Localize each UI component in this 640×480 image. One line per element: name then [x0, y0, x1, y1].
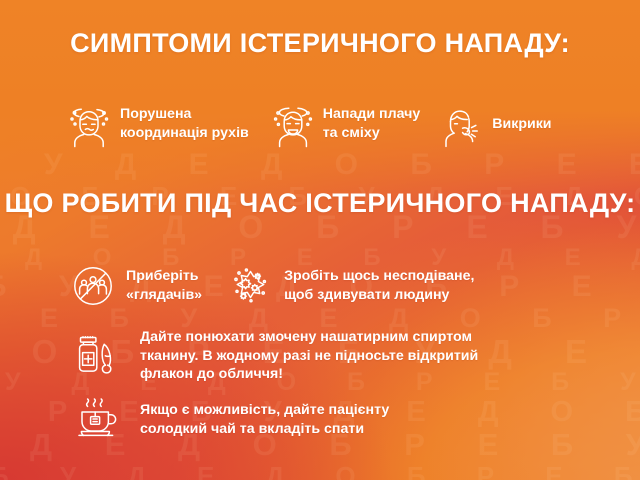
advice-item-remove-spectators: Приберіть «глядачів»: [70, 263, 202, 309]
advice-row-top: Приберіть «глядачів»: [70, 262, 626, 310]
sparkle-burst-icon: [226, 262, 274, 310]
advice-label: Якщо є можливість, дайте пацієнту солодк…: [140, 401, 389, 438]
symptom-item-coordination: Порушена координація рухів: [66, 100, 249, 148]
medicine-bottle-cloth-icon: [74, 332, 124, 380]
no-crowd-icon: [70, 263, 116, 309]
infographic-poster: Б У Д Е Д О Б Р Е Б У Д Е Д О Б Р ЕО Б Р…: [0, 0, 640, 480]
advice-item-do-something-unexpected: Зробіть щось несподіване, щоб здивувати …: [226, 262, 474, 310]
symptom-label: Напади плачу та сміху: [323, 105, 421, 142]
symptoms-heading: СИМПТОМИ ІСТЕРИЧНОГО НАПАДУ:: [0, 28, 640, 60]
advice-label: Приберіть «глядачів»: [126, 267, 202, 304]
symptom-label: Викрики: [492, 115, 551, 134]
symptom-label: Порушена координація рухів: [120, 105, 249, 142]
symptom-item-shouting: Викрики: [438, 100, 551, 148]
symptoms-list: Порушена координація рухів: [66, 100, 630, 148]
advice-label: Дайте понюхати змочену нашатирним спирто…: [140, 328, 478, 384]
what-to-do-heading: ЩО РОБИТИ ПІД ЧАС ІСТЕРИЧНОГО НАПАДУ:: [0, 188, 640, 220]
advice-item-sweet-tea: Якщо є можливість, дайте пацієнту солодк…: [74, 396, 389, 444]
crying-laughing-face-icon: [271, 100, 315, 148]
advice-label: Зробіть щось несподіване, щоб здивувати …: [284, 267, 474, 304]
shouting-face-icon: [438, 100, 484, 148]
poster-content: СИМПТОМИ ІСТЕРИЧНОГО НАПАДУ:: [0, 0, 640, 480]
dizzy-face-icon: [66, 100, 112, 148]
symptom-item-crying-laughing: Напади плачу та сміху: [271, 100, 421, 148]
tea-cup-icon: [74, 396, 122, 444]
advice-item-ammonia-cloth: Дайте понюхати змочену нашатирним спирто…: [74, 328, 478, 384]
